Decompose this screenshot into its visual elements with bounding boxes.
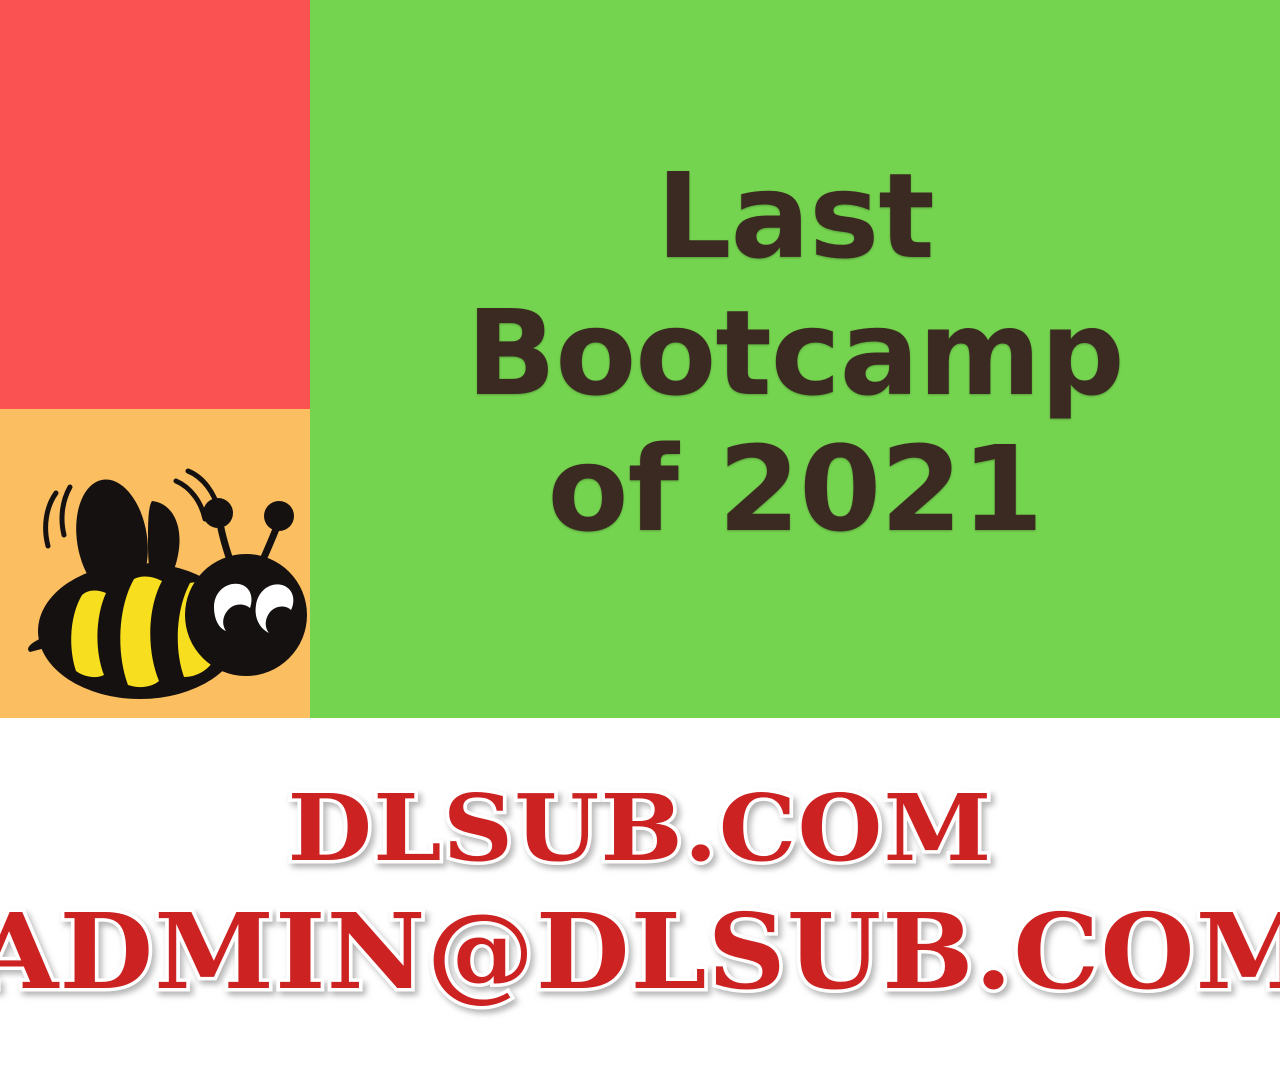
bee-antenna-ball-left [203,498,233,528]
title-line-1: Last [656,148,933,285]
bee-illustration [0,409,310,718]
bee-motion-lines-left [46,487,70,546]
poster-banner: Last Bootcamp of 2021 [0,0,1280,718]
bee-head [185,554,307,676]
watermark-site: DLSUB.COM [0,774,1280,882]
bee-antenna-ball-right [264,501,294,531]
watermark-band: DLSUB.COM ADMIN@DLSUB.COM [0,718,1280,1075]
title-line-2: Bootcamp [466,285,1123,422]
watermark-email: ADMIN@DLSUB.COM [0,890,1280,1013]
poster-page: Last Bootcamp of 2021 DLSUB.COM ADMIN@DL… [0,0,1280,1075]
poster-title: Last Bootcamp of 2021 [310,0,1280,718]
color-block-red [0,0,310,409]
title-line-3: of 2021 [548,421,1043,558]
